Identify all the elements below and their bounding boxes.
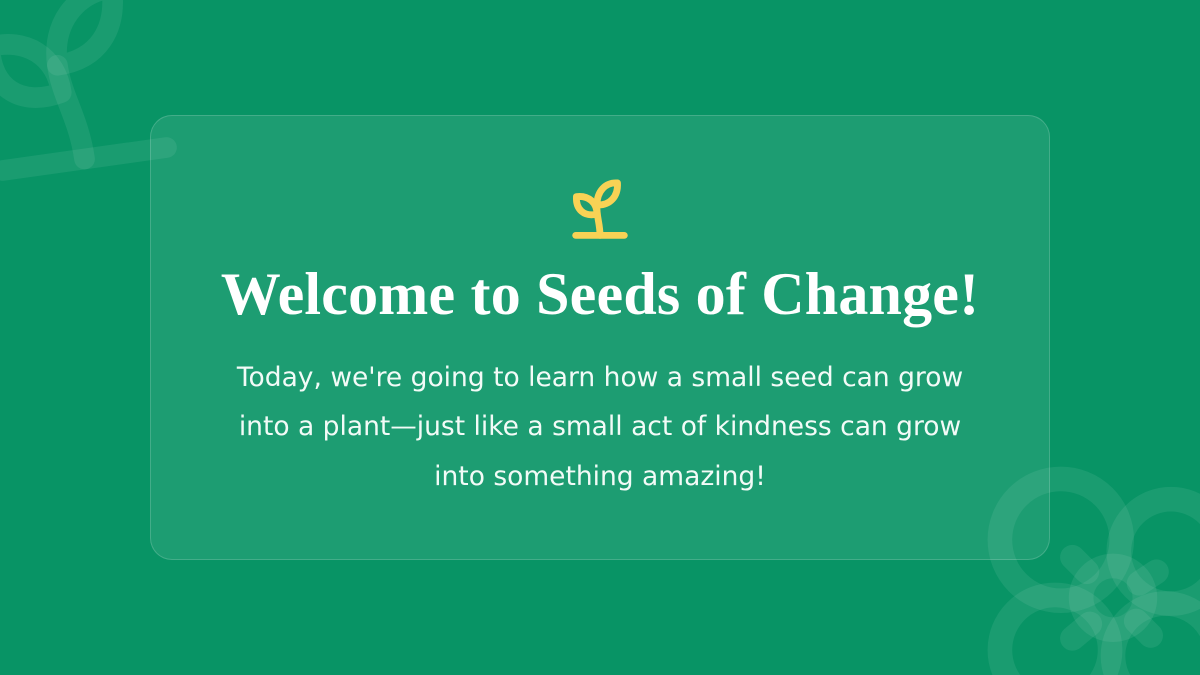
- card-subtitle: Today, we're going to learn how a small …: [215, 353, 985, 501]
- page-title: Welcome to Seeds of Change!: [221, 262, 980, 327]
- slide-canvas: Welcome to Seeds of Change! Today, we're…: [0, 0, 1200, 675]
- welcome-card: Welcome to Seeds of Change! Today, we're…: [150, 115, 1050, 560]
- sprout-icon: [562, 170, 638, 246]
